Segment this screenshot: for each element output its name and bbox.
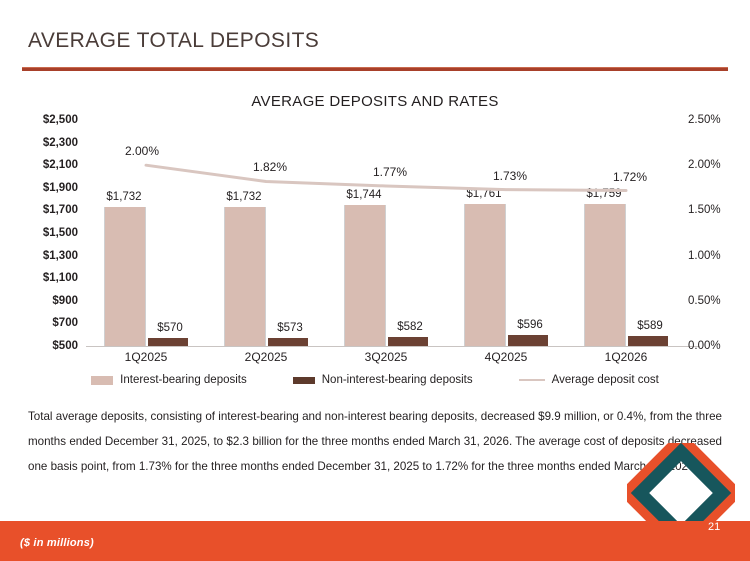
chart-title: AVERAGE DEPOSITS AND RATES — [0, 93, 750, 110]
header-divider — [22, 67, 728, 71]
legend-line-icon — [519, 379, 545, 381]
x-axis-tick-label: 2Q2025 — [245, 350, 288, 364]
y2-axis-tick-label: 0.00% — [688, 340, 748, 352]
y-axis-tick-label: $2,500 — [8, 114, 78, 126]
y-axis-tick-label: $2,100 — [8, 159, 78, 171]
chart-legend: Interest-bearing deposits Non-interest-b… — [0, 374, 750, 386]
y-axis-tick-label: $900 — [8, 295, 78, 307]
legend-label: Average deposit cost — [552, 374, 659, 386]
y-axis-tick-label: $500 — [8, 340, 78, 352]
legend-item-non-interest-bearing: Non-interest-bearing deposits — [293, 374, 473, 386]
legend-label: Interest-bearing deposits — [120, 374, 247, 386]
y-axis-tick-label: $1,500 — [8, 227, 78, 239]
legend-label: Non-interest-bearing deposits — [322, 374, 473, 386]
y2-axis-tick-label: 0.50% — [688, 295, 748, 307]
y-axis-tick-label: $1,100 — [8, 272, 78, 284]
y2-axis-tick-label: 2.50% — [688, 114, 748, 126]
y-axis-tick-label: $1,900 — [8, 182, 78, 194]
x-axis-tick-label: 4Q2025 — [485, 350, 528, 364]
legend-swatch-icon — [91, 376, 113, 385]
x-axis-tick-label: 1Q2025 — [125, 350, 168, 364]
legend-item-average-deposit-cost: Average deposit cost — [519, 374, 659, 386]
y-axis-tick-label: $1,700 — [8, 204, 78, 216]
average-deposit-cost-line — [86, 120, 686, 346]
y2-axis-tick-label: 1.00% — [688, 250, 748, 262]
slide: AVERAGE TOTAL DEPOSITS AVERAGE DEPOSITS … — [0, 0, 750, 561]
body-paragraph: Total average deposits, consisting of in… — [28, 404, 722, 479]
deposits-chart: $500$700$900$1,100$1,300$1,500$1,700$1,9… — [0, 112, 750, 360]
legend-item-interest-bearing: Interest-bearing deposits — [91, 374, 247, 386]
y2-axis-tick-label: 1.50% — [688, 204, 748, 216]
chart-baseline — [86, 346, 700, 347]
x-axis-tick-label: 3Q2025 — [365, 350, 408, 364]
footer-bar — [0, 521, 750, 561]
x-axis-tick-label: 1Q2026 — [605, 350, 648, 364]
y-axis-tick-label: $2,300 — [8, 137, 78, 149]
page-number: 21 — [708, 521, 720, 533]
y-axis-tick-label: $1,300 — [8, 250, 78, 262]
legend-swatch-icon — [293, 377, 315, 384]
footer-note: ($ in millions) — [20, 537, 94, 549]
page-title: AVERAGE TOTAL DEPOSITS — [28, 29, 319, 53]
y2-axis-tick-label: 2.00% — [688, 159, 748, 171]
y-axis-tick-label: $700 — [8, 317, 78, 329]
